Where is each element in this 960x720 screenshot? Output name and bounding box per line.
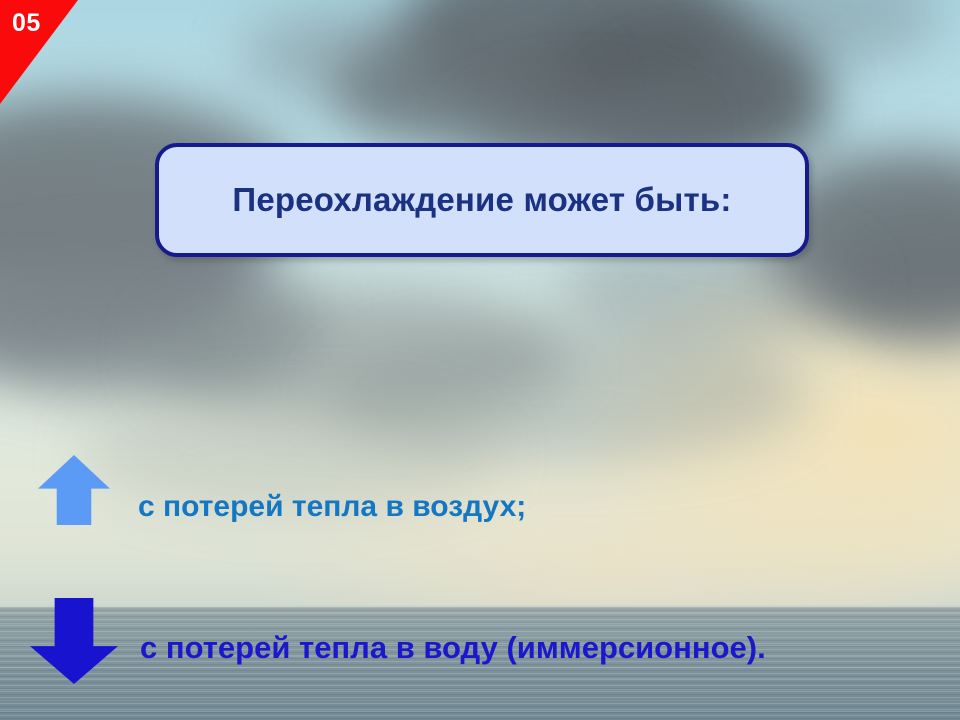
slide-number-label: 05 <box>12 11 41 36</box>
page-title: Переохлаждение может быть: <box>232 181 731 219</box>
bullet-item-air: с потерей тепла в воздух; <box>38 455 526 525</box>
bullet-label-water: с потерей тепла в воду (иммерсионное). <box>140 630 766 666</box>
bullet-label-air: с потерей тепла в воздух; <box>138 490 526 524</box>
arrow-up-icon <box>38 455 110 525</box>
slide-canvas: 05 Переохлаждение может быть: с потерей … <box>0 0 960 720</box>
arrow-down-icon <box>30 598 118 684</box>
title-box: Переохлаждение может быть: <box>155 143 809 257</box>
bullet-item-water: с потерей тепла в воду (иммерсионное). <box>30 598 766 684</box>
